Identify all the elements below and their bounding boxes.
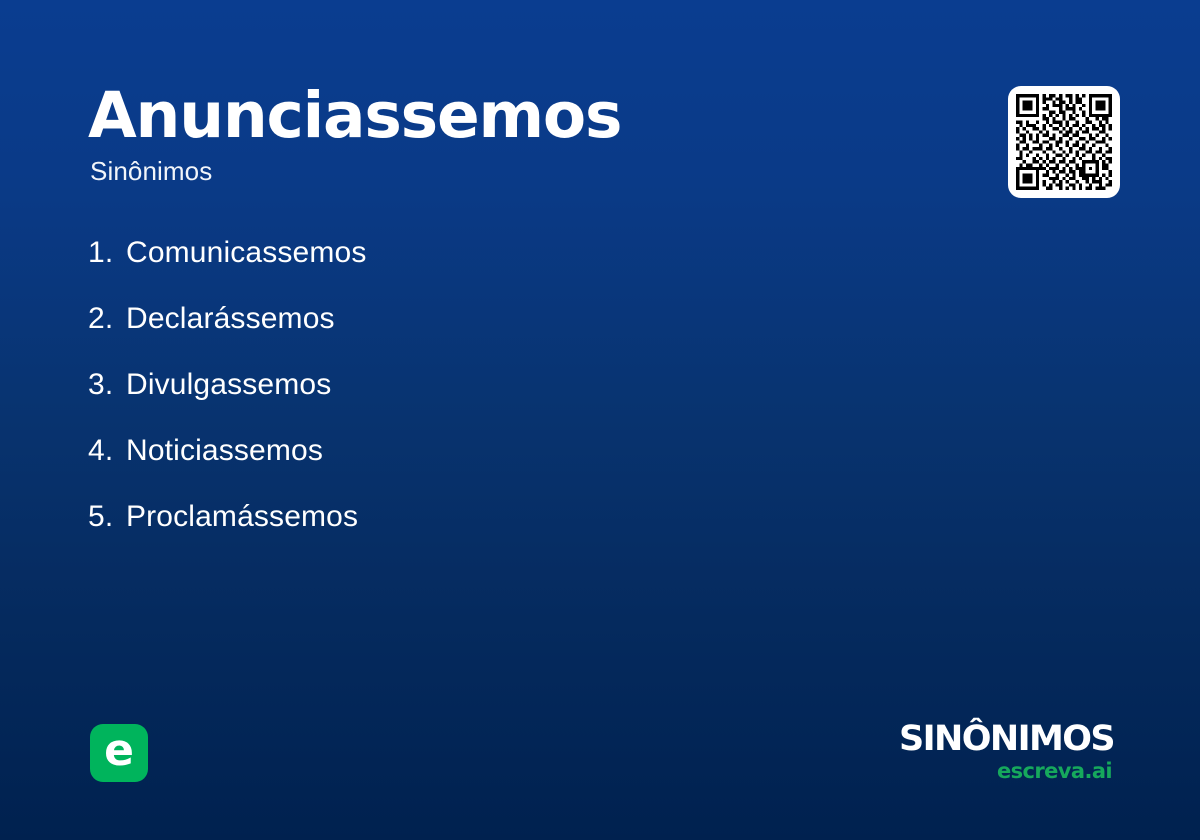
section-label: Sinônimos	[90, 157, 948, 186]
synonyms-list: 1. Comunicassemos 2. Declarássemos 3. Di…	[88, 236, 888, 566]
list-item: 3. Divulgassemos	[88, 368, 888, 434]
page-title: Anunciassemos	[88, 84, 948, 148]
escreva-e-logo-icon[interactable]: e	[90, 724, 148, 782]
escreva-logo-letter: e	[104, 729, 134, 773]
list-item: 4. Noticiassemos	[88, 434, 888, 500]
synonym-card: Anunciassemos Sinônimos 1. Comunicassemo…	[0, 0, 1200, 840]
list-item-index: 1.	[88, 236, 126, 270]
list-item: 2. Declarássemos	[88, 302, 888, 368]
brand-name: SINÔNIMOS	[794, 722, 1114, 757]
list-item-index: 4.	[88, 434, 126, 468]
list-item-index: 5.	[88, 500, 126, 534]
list-item-label: Proclamássemos	[126, 500, 358, 534]
list-item-label: Declarássemos	[126, 302, 335, 336]
list-item: 5. Proclamássemos	[88, 500, 888, 566]
card-header: Anunciassemos Sinônimos	[88, 84, 948, 186]
list-item-index: 2.	[88, 302, 126, 336]
list-item-label: Divulgassemos	[126, 368, 331, 402]
brand-domain: escreva.ai	[794, 761, 1112, 782]
list-item: 1. Comunicassemos	[88, 236, 888, 302]
qr-code-icon[interactable]	[1008, 86, 1120, 198]
qr-code-graphic	[1016, 94, 1112, 190]
list-item-label: Noticiassemos	[126, 434, 323, 468]
brand-logo[interactable]: SINÔNIMOS escreva.ai	[794, 722, 1114, 782]
list-item-label: Comunicassemos	[126, 236, 367, 270]
list-item-index: 3.	[88, 368, 126, 402]
